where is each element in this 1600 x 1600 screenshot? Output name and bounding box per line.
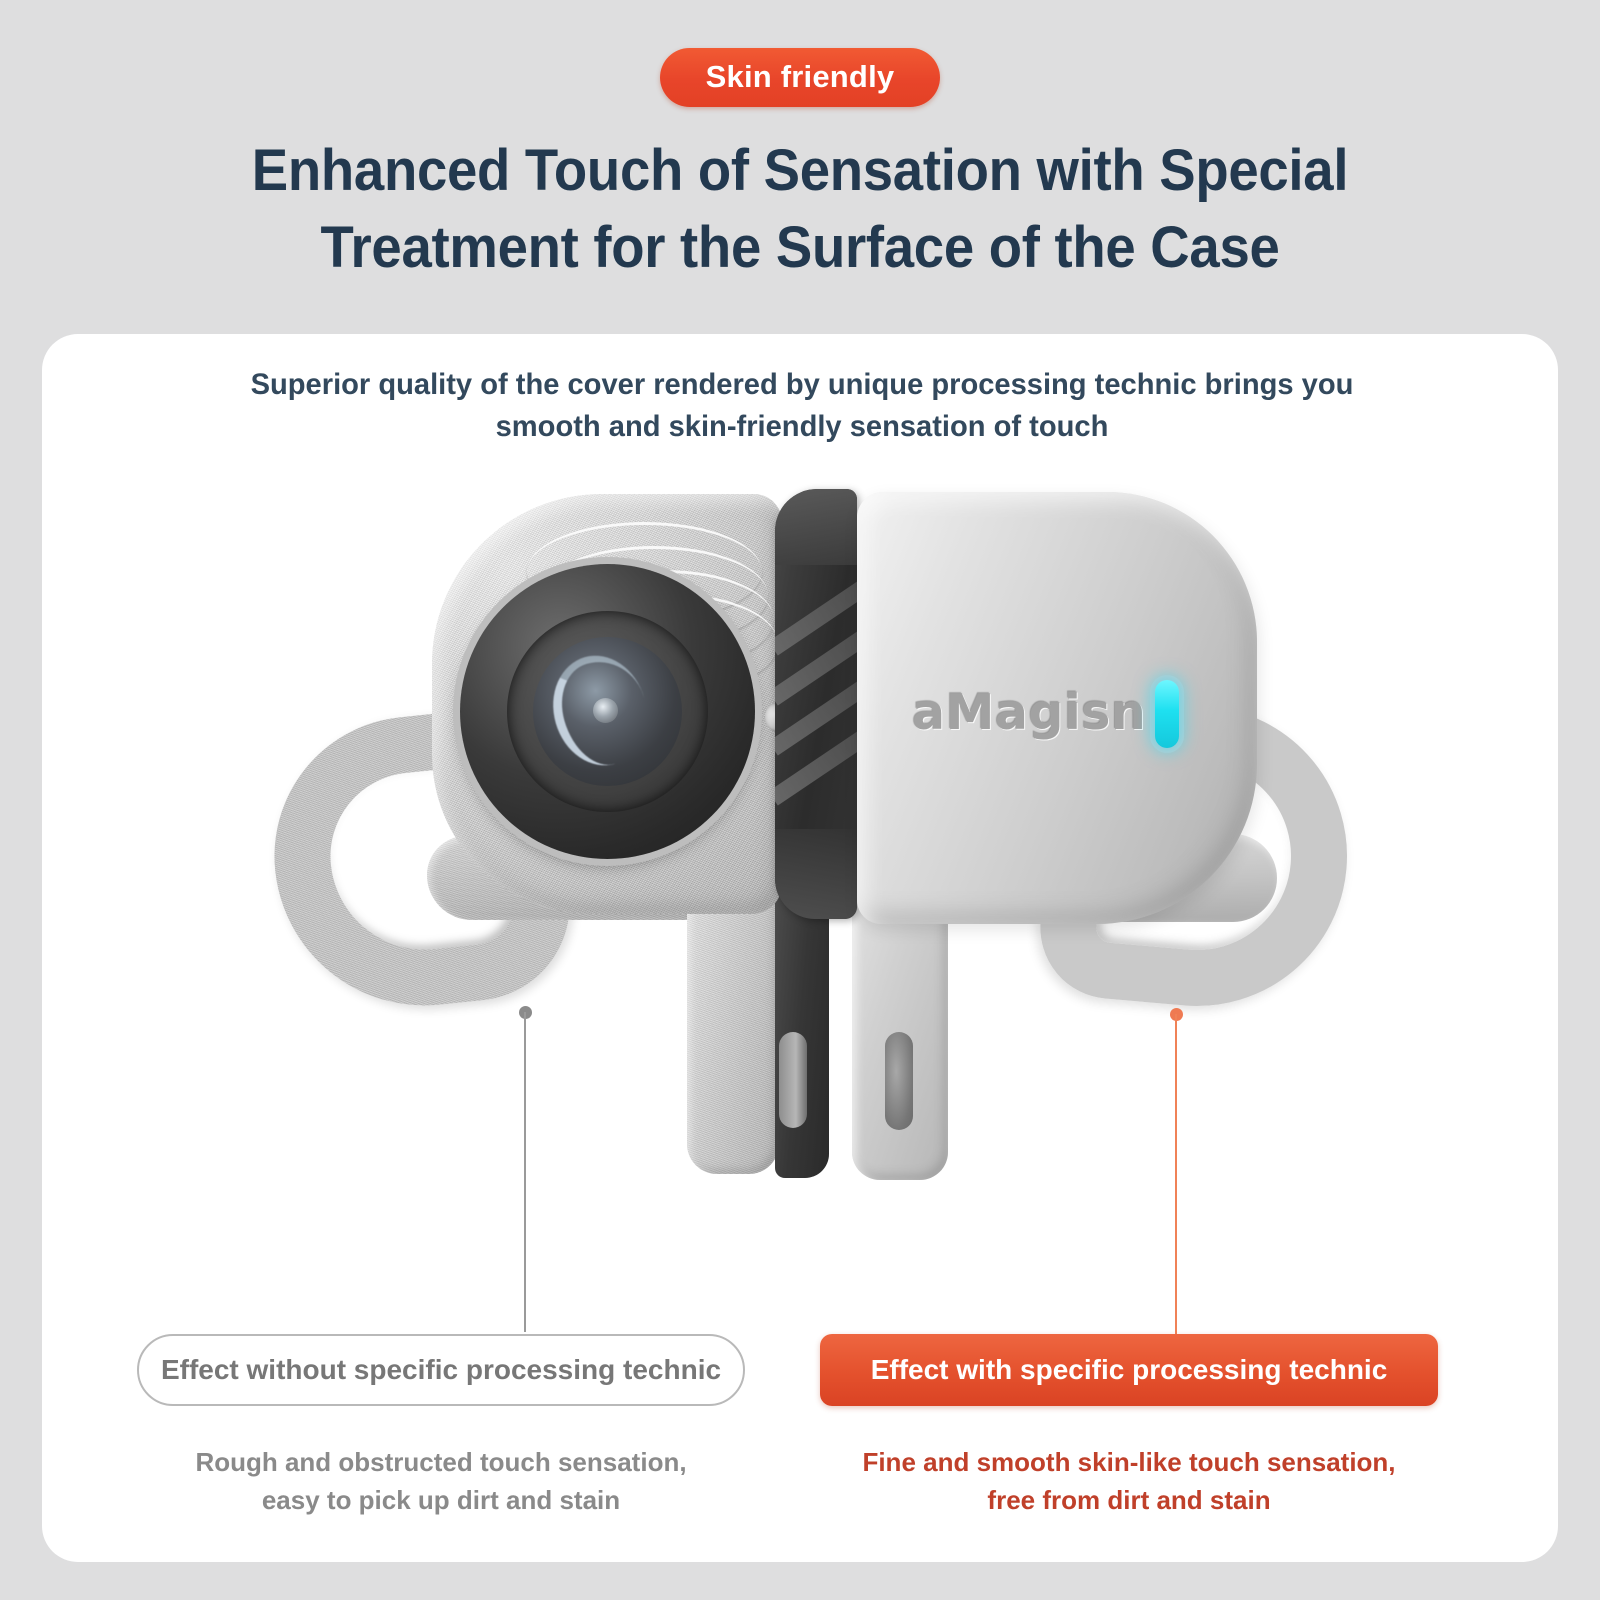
page-title: Enhanced Touch of Sensation with Special…: [142, 133, 1458, 286]
brand-logo: aMagisn: [912, 684, 1146, 741]
led-indicator-icon: [1155, 680, 1179, 748]
lens-inner-ring: [507, 611, 708, 812]
camera-case-product-image: aMagisn: [257, 484, 1347, 1284]
caption-without-processing: Rough and obstructed touch sensation, ea…: [137, 1444, 745, 1519]
caption-left-line-2: easy to pick up dirt and stain: [137, 1482, 745, 1520]
caption-with-processing: Fine and smooth skin-like touch sensatio…: [820, 1444, 1438, 1519]
product-stage: aMagisn: [42, 454, 1558, 1284]
cutaway-top-band: [775, 489, 857, 565]
label-without-processing: Effect without specific processing techn…: [137, 1334, 745, 1406]
skin-friendly-badge: Skin friendly: [660, 48, 941, 107]
camera-lens: [460, 564, 755, 859]
left-mount-screw-hole: [779, 1032, 807, 1128]
caption-left-line-1: Rough and obstructed touch sensation,: [137, 1444, 745, 1482]
lens-center-highlight: [593, 698, 618, 723]
right-mount-screw-hole: [885, 1032, 913, 1130]
content-card: Superior quality of the cover rendered b…: [42, 334, 1558, 1562]
page-title-line-2: Treatment for the Surface of the Case: [142, 210, 1458, 287]
cutaway-bottom-band: [775, 829, 857, 919]
card-subtitle-line-2: smooth and skin-friendly sensation of to…: [249, 406, 1355, 448]
badge-container: Skin friendly: [0, 48, 1600, 107]
left-callout-line: [524, 1012, 526, 1332]
case-cross-section: [775, 489, 857, 919]
caption-right-line-2: free from dirt and stain: [820, 1482, 1438, 1520]
page-title-line-1: Enhanced Touch of Sensation with Special: [142, 133, 1458, 210]
card-subtitle-line-1: Superior quality of the cover rendered b…: [249, 364, 1355, 406]
caption-right-line-1: Fine and smooth skin-like touch sensatio…: [820, 1444, 1438, 1482]
card-subtitle: Superior quality of the cover rendered b…: [249, 364, 1355, 448]
lens-glass: [533, 637, 681, 785]
label-with-processing: Effect with specific processing technic: [820, 1334, 1438, 1406]
right-callout-line: [1175, 1014, 1177, 1334]
